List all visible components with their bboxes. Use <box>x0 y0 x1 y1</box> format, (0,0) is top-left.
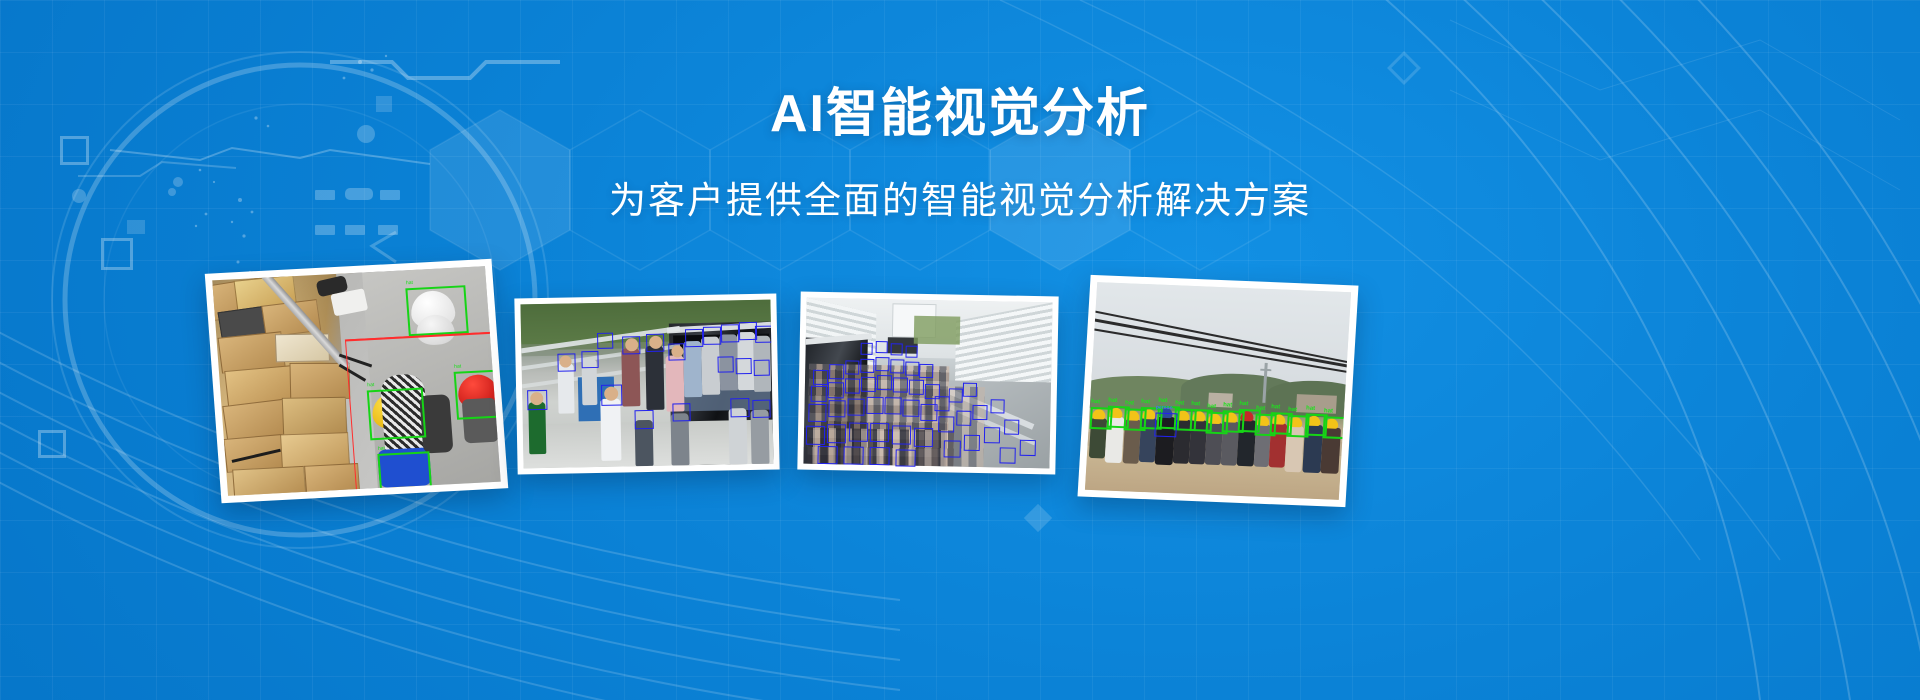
hat-detection-label: hat <box>1175 400 1184 406</box>
face-box <box>685 329 703 347</box>
photo-outdoor-image: hat hat hat hat hat hat hat hat hat hat <box>1085 282 1351 500</box>
photo-card-station-crowd[interactable] <box>797 292 1058 475</box>
face-box <box>527 390 547 410</box>
face-box <box>597 333 613 349</box>
photo-card-bridge-crowd[interactable] <box>514 294 779 475</box>
hat-detection-label: hat <box>1125 400 1134 406</box>
hat-detection-label: hat <box>1158 398 1167 404</box>
face-box <box>755 326 772 343</box>
photo-station-image <box>803 298 1052 469</box>
face-box <box>646 334 664 352</box>
hat-detection-label: hat <box>1324 408 1333 414</box>
hat-detection-label: hat <box>1108 398 1117 404</box>
hat-detection-label: hat <box>1191 401 1200 407</box>
face-box <box>754 360 770 376</box>
photo-card-warehouse[interactable]: hat hat hat hat <box>205 259 509 503</box>
photo-gallery: hat hat hat hat <box>0 0 1920 700</box>
hat-detection-label: hat <box>1239 401 1248 407</box>
photo-bridge-image <box>520 300 773 469</box>
face-box <box>703 327 721 345</box>
hat-detection-label: hat <box>1207 404 1216 410</box>
face-box <box>717 356 733 372</box>
face-box <box>730 398 749 417</box>
hat-detection-box <box>1322 416 1345 439</box>
hat-detection-label: hat <box>1271 404 1280 410</box>
face-box <box>581 351 598 368</box>
ai-vision-banner: AI智能视觉分析 为客户提供全面的智能视觉分析解决方案 <box>0 0 1920 700</box>
face-box <box>668 343 685 360</box>
face-box <box>601 384 622 405</box>
person-detection-box <box>1154 413 1177 438</box>
detection-label: hat <box>406 281 413 286</box>
photo-warehouse-image: hat hat hat hat <box>212 266 501 496</box>
hat-detection-label: hat <box>1223 402 1232 408</box>
photo-card-outdoor-group[interactable]: hat hat hat hat hat hat hat hat hat hat <box>1078 275 1359 507</box>
hat-detection-label: hat <box>1141 399 1150 405</box>
face-box <box>721 324 739 342</box>
hat-detection-label: hat <box>1288 407 1297 413</box>
person-detection-label: person <box>1156 406 1173 412</box>
restricted-zone <box>345 332 501 490</box>
face-box <box>736 358 752 374</box>
face-box <box>672 403 690 421</box>
face-box <box>622 336 640 354</box>
detection-box <box>405 285 468 336</box>
hat-detection-label: hat <box>1091 399 1100 405</box>
hat-detection-label: hat <box>1256 406 1265 412</box>
hat-detection-label: hat <box>1306 406 1315 412</box>
face-box <box>557 353 575 371</box>
face-box <box>635 410 654 429</box>
face-box <box>752 400 770 418</box>
